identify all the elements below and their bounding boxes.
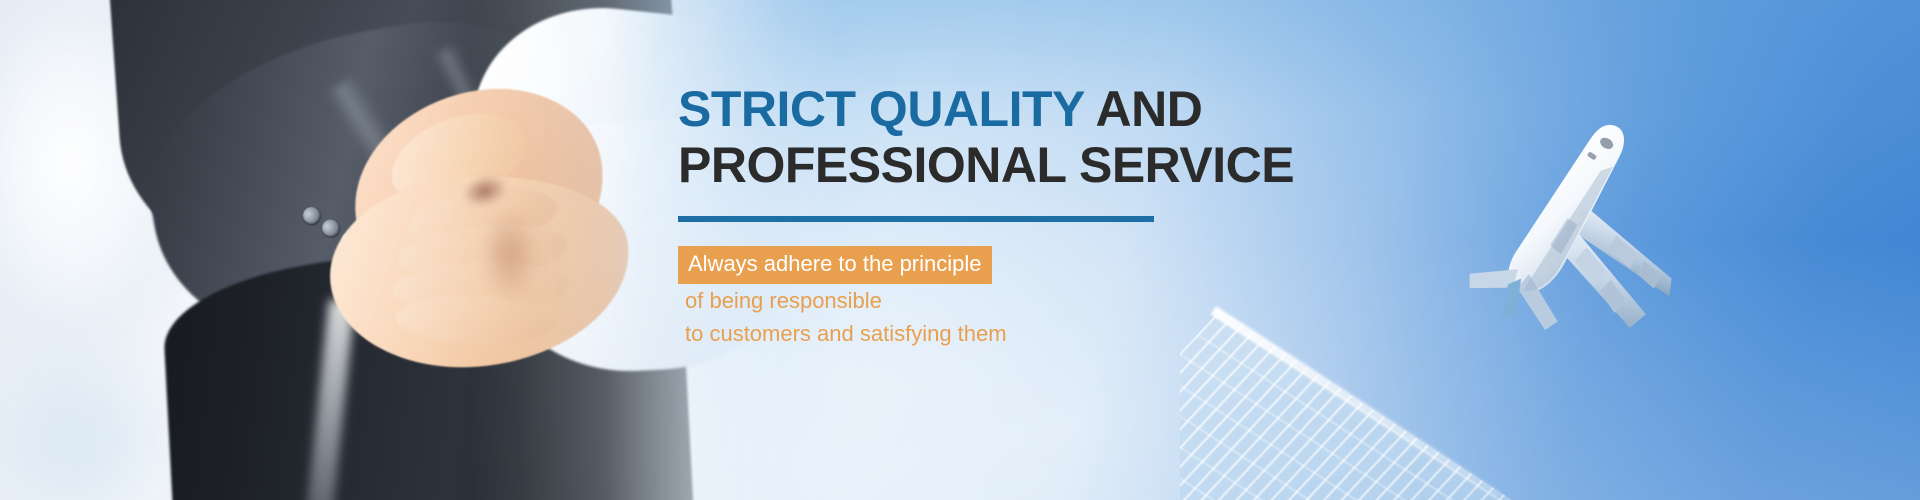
- banner-content: STRICT QUALITY AND PROFESSIONAL SERVICE …: [678, 82, 1438, 356]
- subtitle-line-1-highlighted: Always adhere to the principle: [678, 246, 992, 284]
- headline-accent-text: STRICT QUALITY: [678, 81, 1084, 137]
- headline-line-2: PROFESSIONAL SERVICE: [678, 138, 1438, 192]
- headline-dark-text: AND: [1084, 81, 1202, 137]
- airplane-icon: [1452, 88, 1712, 348]
- promo-banner: STRICT QUALITY AND PROFESSIONAL SERVICE …: [0, 0, 1920, 500]
- subtitle-line-2: of being responsible: [678, 290, 1438, 312]
- headline-divider: [678, 216, 1154, 222]
- subtitle-block: Always adhere to the principle of being …: [678, 246, 1438, 345]
- headline-line-1: STRICT QUALITY AND: [678, 82, 1438, 136]
- subtitle-line-3: to customers and satisfying them: [678, 323, 1438, 345]
